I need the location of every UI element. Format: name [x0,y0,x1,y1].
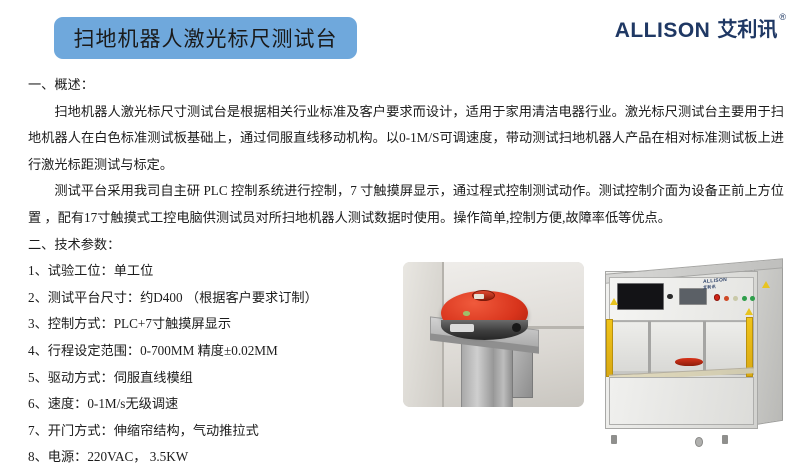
industrial-pc-monitor [617,283,664,310]
cabinet-foot-right [722,435,728,445]
overview-paragraph-2: 测试平台采用我司自主研 PLC 控制系统进行控制，7 寸触摸屏显示，通过程式控制… [28,178,784,231]
logo-text-english: ALLISON [615,20,711,41]
overview-paragraph-1: 扫地机器人激光标尺寸测试台是根据相关行业标准及客户要求而设计，适用于家用清洁电器… [28,99,784,179]
product-photo-robot-fixture [403,262,584,407]
company-logo: ALLISON 艾利讯 ® [615,20,786,41]
cabinet-foot-left [611,435,617,445]
robot-side-sensor [512,323,521,332]
robot-top-marker [474,294,485,299]
robot-bumper-highlight [450,324,474,331]
cabinet-lower-door [609,377,754,425]
emergency-stop-button [714,294,720,301]
registered-trademark-icon: ® [779,13,786,22]
chamber-post-right [703,321,706,373]
logo-text-chinese: 艾利讯 [717,20,777,40]
page-title: 扫地机器人激光标尺测试台 [74,23,338,53]
product-photo-test-machine: ALLISON 艾利讯 [593,256,789,448]
fixture-pedestal-secondary [494,346,514,407]
machine-brand-label: ALLISON 艾利讯 [703,277,727,291]
warning-label-icon-left [610,298,618,305]
chamber-post-left [648,321,651,373]
fixture-pedestal [461,343,497,407]
page-title-banner: 扫地机器人激光标尺测试台 [54,17,357,59]
indicator-light-green-2 [750,296,755,301]
overview-heading: 一、概述： [28,72,784,99]
robot-indicator-dot [463,311,470,315]
warning-label-icon-side [762,281,770,288]
spec-item-8: 8、电源：220VAC， 3.5KW [28,444,784,471]
cabinet-caster-wheel [695,437,703,447]
safety-curtain-left [606,319,613,377]
document-page: 扫地机器人激光标尺测试台 ALLISON 艾利讯 ® 一、概述： 扫地机器人激光… [0,0,800,450]
robot-under-test [675,358,702,367]
warning-label-icon-right [745,308,753,315]
specs-heading: 二、技术参数： [28,232,784,259]
indicator-light-green-1 [742,296,747,301]
